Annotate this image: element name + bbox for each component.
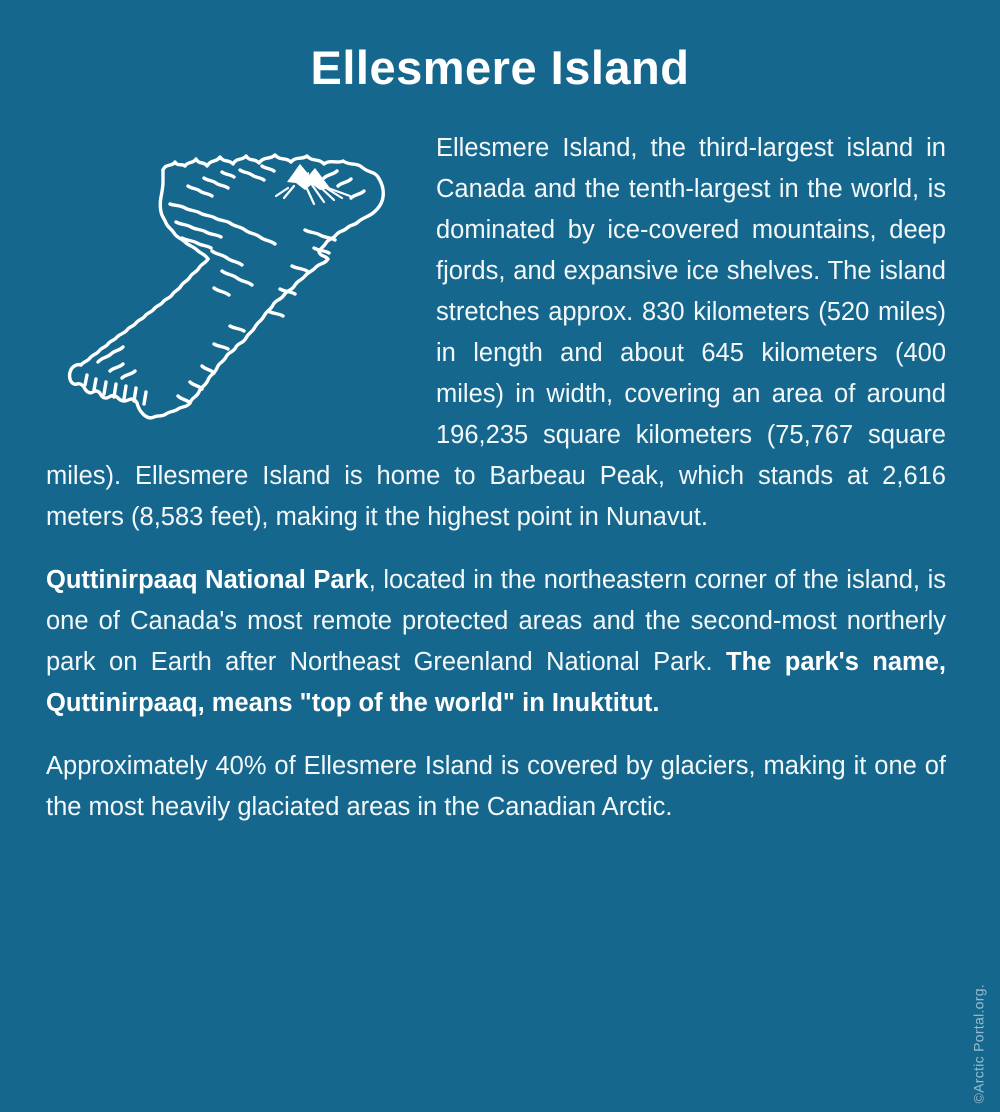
park-name-bold: Quttinirpaaq National Park (46, 566, 369, 594)
watermark: ©Arctic Portal.org. (982, 992, 998, 1112)
paragraph-intro: Ellesmere Island, the third-largest isla… (46, 128, 946, 538)
infographic-card: Ellesmere Island (0, 0, 1000, 1000)
paragraph-glaciers: Approximately 40% of Ellesmere Island is… (46, 746, 946, 828)
article-body: Ellesmere Island, the third-largest isla… (46, 128, 946, 828)
paragraph-national-park: Quttinirpaaq National Park, located in t… (46, 560, 946, 724)
page-title: Ellesmere Island (0, 44, 1000, 91)
paragraph-glaciers-text: Approximately 40% of Ellesmere Island is… (46, 752, 946, 821)
watermark-text: ©Arctic Portal.org. (970, 984, 986, 1104)
map-wrap-spacer (46, 128, 436, 448)
